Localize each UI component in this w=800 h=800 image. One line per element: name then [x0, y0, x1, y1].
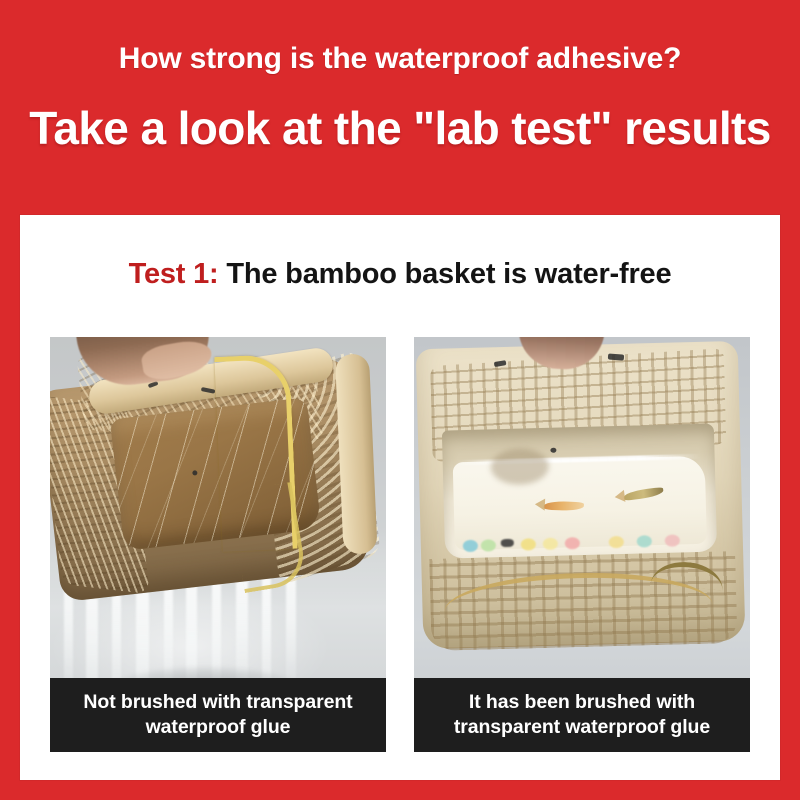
content-card: Test 1: The bamboo basket is water-free	[20, 215, 780, 780]
panel-brushed: It has been brushed with transparent wat…	[414, 337, 750, 752]
headline-main: Take a look at the "lab test" results	[0, 100, 800, 156]
poster-root: How strong is the waterproof adhesive? T…	[0, 0, 800, 800]
panel-not-brushed: Not brushed with transparent waterproof …	[50, 337, 386, 752]
test-title: Test 1: The bamboo basket is water-free	[20, 258, 780, 291]
test-title-text: The bamboo basket is water-free	[226, 258, 671, 290]
comparison-panels: Not brushed with transparent waterproof …	[50, 337, 750, 752]
test-label: Test 1:	[129, 258, 219, 290]
debris-speck	[608, 353, 624, 360]
headline-question: How strong is the waterproof adhesive?	[0, 41, 800, 77]
bamboo-basket-sealed	[414, 337, 750, 685]
caption-brushed: It has been brushed with transparent wat…	[414, 678, 750, 752]
caption-not-brushed: Not brushed with transparent waterproof …	[50, 678, 386, 752]
bamboo-basket-leaking	[50, 337, 385, 613]
header-band: How strong is the waterproof adhesive? T…	[0, 0, 800, 215]
fish-tail	[614, 490, 625, 503]
fish-tail	[535, 498, 546, 510]
